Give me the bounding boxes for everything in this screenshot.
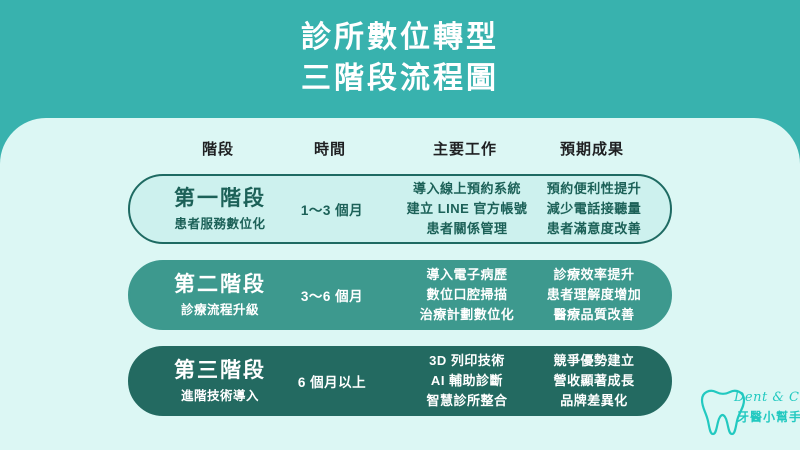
result-item: 診療效率提升 — [547, 265, 642, 285]
table-row[interactable]: 第一階段 患者服務數位化 1〜3 個月 導入線上預約系統 建立 LINE 官方帳… — [128, 174, 672, 244]
stage-subtitle: 進階技術導入 — [174, 388, 266, 404]
results-cell: 診療效率提升 患者理解度增加 醫療品質改善 — [547, 265, 642, 325]
stage-title: 第三階段 — [174, 358, 266, 384]
task-item: 智慧診所整合 — [426, 391, 507, 411]
task-item: 3D 列印技術 — [426, 351, 507, 371]
stage-subtitle: 診療流程升級 — [174, 302, 266, 318]
task-item: 導入線上預約系統 — [407, 179, 528, 199]
time-value: 6 個月以上 — [298, 371, 366, 391]
results-cell: 預約便利性提升 減少電話接聽量 患者滿意度改善 — [547, 179, 642, 239]
stage-cell: 第二階段 診療流程升級 — [174, 272, 266, 318]
time-cell: 3〜6 個月 — [301, 285, 363, 305]
table-row[interactable]: 第三階段 進階技術導入 6 個月以上 3D 列印技術 AI 輔助診斷 智慧診所整… — [128, 346, 672, 416]
time-cell: 1〜3 個月 — [301, 199, 363, 219]
task-item: AI 輔助診斷 — [426, 371, 507, 391]
stage-cell: 第一階段 患者服務數位化 — [174, 186, 266, 232]
task-item: 數位口腔掃描 — [420, 285, 515, 305]
stage-title: 第一階段 — [174, 186, 266, 212]
result-item: 競爭優勢建立 — [553, 351, 634, 371]
tasks-cell: 導入電子病歷 數位口腔掃描 治療計劃數位化 — [420, 265, 515, 325]
task-item: 患者關係管理 — [407, 219, 528, 239]
result-item: 預約便利性提升 — [547, 179, 642, 199]
result-item: 患者理解度增加 — [547, 285, 642, 305]
table-row[interactable]: 第二階段 診療流程升級 3〜6 個月 導入電子病歷 數位口腔掃描 治療計劃數位化… — [128, 260, 672, 330]
column-header-time: 時間 — [314, 138, 346, 159]
stage-cell: 第三階段 進階技術導入 — [174, 358, 266, 404]
stage-title: 第二階段 — [174, 272, 266, 298]
task-item: 建立 LINE 官方帳號 — [407, 199, 528, 219]
result-item: 患者滿意度改善 — [547, 219, 642, 239]
time-value: 3〜6 個月 — [301, 285, 363, 305]
column-header-stage: 階段 — [202, 138, 234, 159]
column-header-tasks: 主要工作 — [433, 138, 497, 159]
title-line-2: 三階段流程圖 — [301, 62, 499, 97]
slide-title: 診所數位轉型 三階段流程圖 — [0, 0, 800, 118]
column-header-row: 階段 時間 主要工作 預期成果 — [128, 138, 672, 164]
tasks-cell: 3D 列印技術 AI 輔助診斷 智慧診所整合 — [426, 351, 507, 411]
time-cell: 6 個月以上 — [298, 371, 366, 391]
task-item: 治療計劃數位化 — [420, 305, 515, 325]
logo-script-text: Dent & Co — [734, 390, 800, 405]
title-line-1: 診所數位轉型 — [301, 21, 499, 56]
logo-chinese-text: 牙醫小幫手 — [737, 408, 800, 425]
results-cell: 競爭優勢建立 營收顯著成長 品牌差異化 — [553, 351, 634, 411]
task-item: 導入電子病歷 — [420, 265, 515, 285]
result-item: 營收顯著成長 — [553, 371, 634, 391]
brand-logo: Dent & Co 牙醫小幫手 — [694, 386, 794, 442]
result-item: 醫療品質改善 — [547, 305, 642, 325]
tasks-cell: 導入線上預約系統 建立 LINE 官方帳號 患者關係管理 — [407, 179, 528, 239]
stage-subtitle: 患者服務數位化 — [174, 216, 266, 232]
result-item: 品牌差異化 — [553, 391, 634, 411]
slide-canvas: 診所數位轉型 三階段流程圖 階段 時間 主要工作 預期成果 第一階段 患者服務數… — [0, 0, 800, 450]
result-item: 減少電話接聽量 — [547, 199, 642, 219]
time-value: 1〜3 個月 — [301, 199, 363, 219]
column-header-result: 預期成果 — [560, 138, 624, 159]
